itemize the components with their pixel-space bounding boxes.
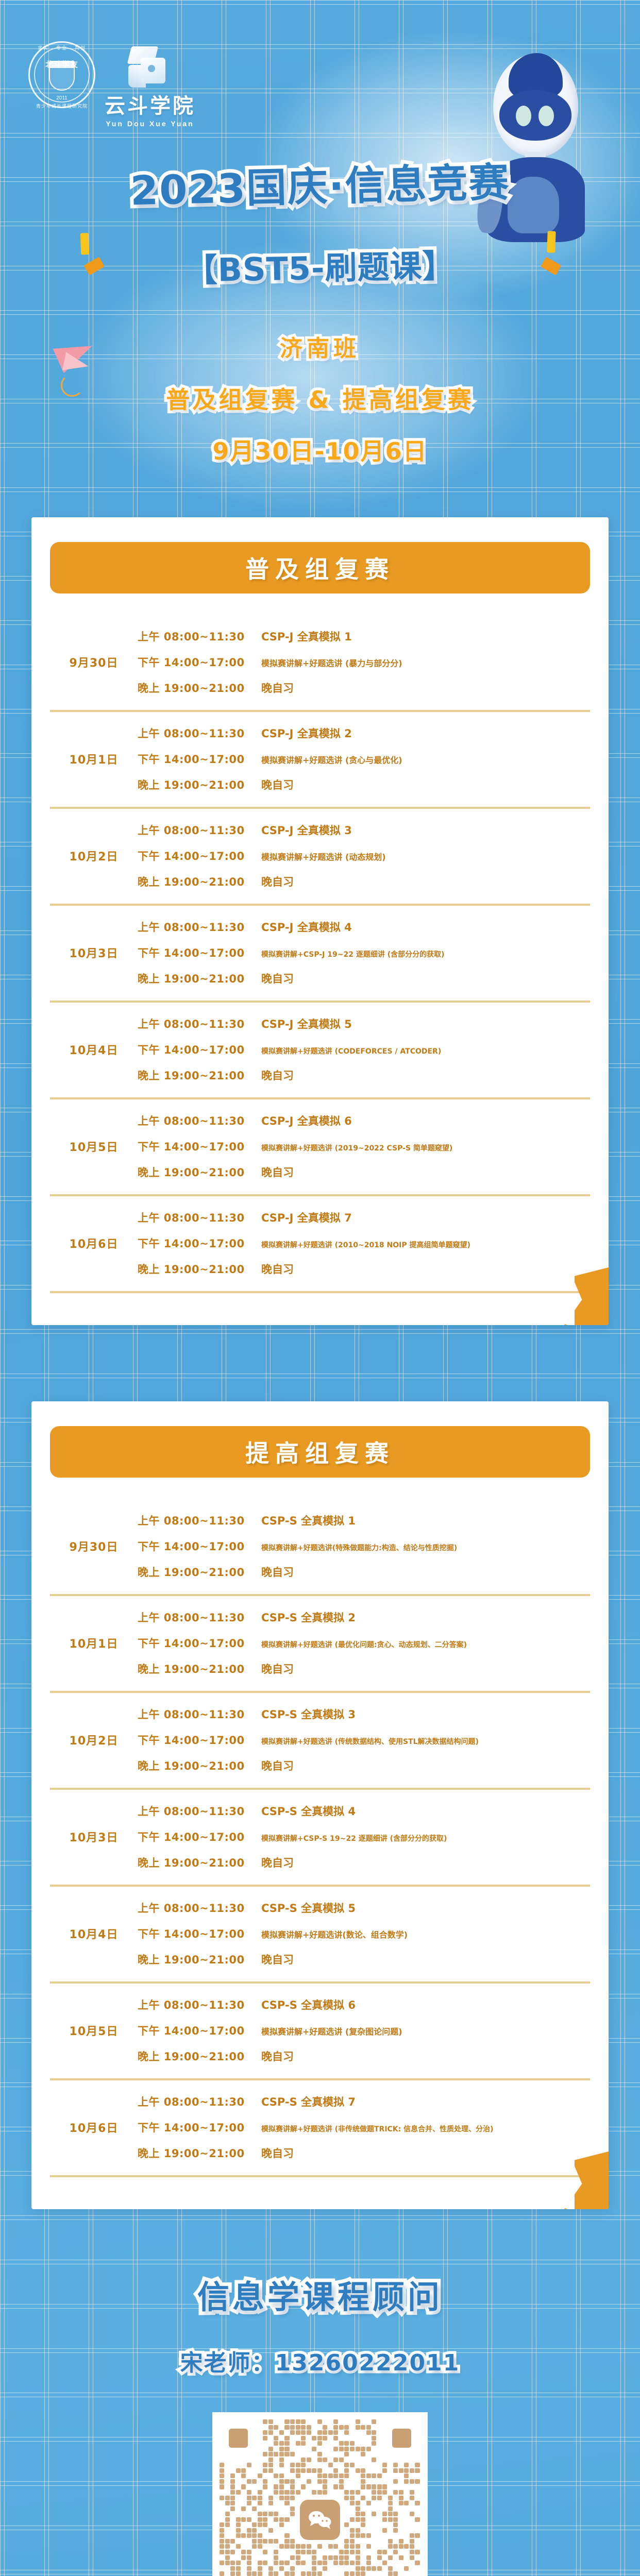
table-row: 10月6日上午 08:00~11:30CSP-S 全真模拟 7下午 14:00~… [50, 2080, 590, 2177]
list-item: 上午 08:00~11:30CSP-J 全真模拟 4 [138, 914, 590, 940]
poster-footer: 信息学课程顾问 宋老师：13260222011 [0, 2209, 640, 2576]
session-time: 下午 14:00~17:00 [138, 945, 261, 960]
footer-title: 信息学课程顾问 [0, 2271, 640, 2317]
session-activity: CSP-J 全真模拟 4 [261, 919, 590, 935]
date-range-label: 9月30日-10月6日 [0, 433, 640, 467]
row-date: 10月3日 [50, 944, 138, 961]
academy-brand: 云斗学院 Yun Dou Xue Yuan [105, 44, 195, 128]
session-activity: 晚自习 [261, 1855, 590, 1870]
session-time: 晚上 19:00~21:00 [138, 2145, 261, 2161]
session-activity: 模拟赛讲解+好题选讲 (非传统做题TRICK: 信息合并、性质处理、分治) [261, 2124, 590, 2134]
schedule-card-advanced-group: 提高组复赛9月30日上午 08:00~11:30CSP-S 全真模拟 1下午 1… [31, 1401, 609, 2209]
session-time: 晚上 19:00~21:00 [138, 1758, 261, 1773]
list-item: 上午 08:00~11:30CSP-J 全真模拟 7 [138, 1205, 590, 1230]
list-item: 下午 14:00~17:00模拟赛讲解+好题选讲 (非传统做题TRICK: 信息… [138, 2114, 590, 2140]
session-time: 下午 14:00~17:00 [138, 1926, 261, 1941]
row-session-list: 上午 08:00~11:30CSP-J 全真模拟 2下午 14:00~17:00… [138, 720, 590, 798]
poster-root: 求实 · 专业 · 共创 北斗学友 2011 青少年成长课程研究院 云斗学院 Y… [0, 0, 640, 2576]
row-date: 10月1日 [50, 1635, 138, 1651]
list-item: 上午 08:00~11:30CSP-S 全真模拟 6 [138, 1992, 590, 2018]
session-activity: CSP-J 全真模拟 6 [261, 1113, 590, 1128]
session-activity: 模拟赛讲解+好题选讲 (传统数据结构、使用STL解决数据结构问题) [261, 1736, 590, 1747]
institute-seal-icon: 求实 · 专业 · 共创 北斗学友 2011 青少年成长课程研究院 [28, 41, 95, 108]
session-activity: 晚自习 [261, 1261, 590, 1277]
row-session-list: 上午 08:00~11:30CSP-S 全真模拟 3下午 14:00~17:00… [138, 1701, 590, 1778]
table-row: 10月1日上午 08:00~11:30CSP-S 全真模拟 2下午 14:00~… [50, 1596, 590, 1693]
session-time: 上午 08:00~11:30 [138, 822, 261, 838]
list-item: 晚上 19:00~21:00晚自习 [138, 1946, 590, 1972]
schedule-sections: 普及组复赛9月30日上午 08:00~11:30CSP-J 全真模拟 1下午 1… [0, 517, 640, 2209]
table-row: 10月2日上午 08:00~11:30CSP-J 全真模拟 3下午 14:00~… [50, 809, 590, 906]
session-time: 晚上 19:00~21:00 [138, 1855, 261, 1870]
row-date: 10月2日 [50, 1732, 138, 1748]
section-header-advanced-group: 提高组复赛 [50, 1426, 590, 1478]
row-date: 9月30日 [50, 654, 138, 670]
seal-arc-top-text: 求实 · 专业 · 共创 [28, 44, 95, 51]
session-time: 下午 14:00~17:00 [138, 1042, 261, 1057]
list-item: 上午 08:00~11:30CSP-J 全真模拟 1 [138, 623, 590, 649]
session-time: 晚上 19:00~21:00 [138, 1661, 261, 1676]
session-activity: 模拟赛讲解+好题选讲(数论、组合数学) [261, 1928, 590, 1940]
session-activity: 模拟赛讲解+好题选讲(特殊做题能力:构造、结论与性质挖掘) [261, 1543, 590, 1553]
session-activity: 晚自习 [261, 2145, 590, 2161]
logo-group: 求实 · 专业 · 共创 北斗学友 2011 青少年成长课程研究院 云斗学院 Y… [28, 41, 195, 128]
table-row: 9月30日上午 08:00~11:30CSP-J 全真模拟 1下午 14:00~… [50, 615, 590, 712]
session-time: 上午 08:00~11:30 [138, 1803, 261, 1819]
session-activity: 晚自习 [261, 1952, 590, 1967]
session-activity: CSP-S 全真模拟 4 [261, 1803, 590, 1819]
list-item: 晚上 19:00~21:00晚自习 [138, 675, 590, 701]
session-time: 下午 14:00~17:00 [138, 751, 261, 767]
row-session-list: 上午 08:00~11:30CSP-S 全真模拟 2下午 14:00~17:00… [138, 1604, 590, 1682]
list-item: 晚上 19:00~21:00晚自习 [138, 965, 590, 991]
session-activity: 模拟赛讲解+CSP-J 19~22 逐题细讲 (含部分分的获取) [261, 949, 590, 959]
session-activity: 模拟赛讲解+好题选讲 (2010~2018 NOIP 提高组简单题窥望) [261, 1240, 590, 1250]
academy-name: 云斗学院 [105, 96, 195, 116]
session-activity: CSP-S 全真模拟 2 [261, 1609, 590, 1625]
section-title: 提高组复赛 [245, 1435, 395, 1469]
session-activity: CSP-S 全真模拟 1 [261, 1513, 590, 1528]
session-activity: CSP-S 全真模拟 6 [261, 1997, 590, 2012]
table-row: 10月4日上午 08:00~11:30CSP-S 全真模拟 5下午 14:00~… [50, 1887, 590, 1984]
section-title: 普及组复赛 [245, 551, 395, 585]
row-date: 9月30日 [50, 1538, 138, 1554]
session-activity: CSP-S 全真模拟 3 [261, 1706, 590, 1722]
academy-logo-icon [125, 44, 175, 94]
session-time: 下午 14:00~17:00 [138, 1235, 261, 1251]
list-item: 晚上 19:00~21:00晚自习 [138, 1062, 590, 1088]
session-time: 晚上 19:00~21:00 [138, 2048, 261, 2064]
row-date: 10月1日 [50, 751, 138, 767]
session-time: 晚上 19:00~21:00 [138, 874, 261, 889]
session-activity: 晚自习 [261, 1564, 590, 1580]
schedule-card-popular-group: 普及组复赛9月30日上午 08:00~11:30CSP-J 全真模拟 1下午 1… [31, 517, 609, 1325]
contact-phone: 宋老师：13260222011 [0, 2344, 640, 2377]
session-time: 晚上 19:00~21:00 [138, 971, 261, 986]
seal-year: 2011 [28, 95, 95, 101]
list-item: 上午 08:00~11:30CSP-J 全真模拟 6 [138, 1108, 590, 1133]
session-time: 下午 14:00~17:00 [138, 1139, 261, 1154]
session-time: 晚上 19:00~21:00 [138, 1164, 261, 1180]
row-session-list: 上午 08:00~11:30CSP-S 全真模拟 4下午 14:00~17:00… [138, 1798, 590, 1875]
session-time: 上午 08:00~11:30 [138, 629, 261, 644]
session-time: 下午 14:00~17:00 [138, 1538, 261, 1554]
session-time: 下午 14:00~17:00 [138, 1732, 261, 1748]
section-header-popular-group: 普及组复赛 [50, 542, 590, 594]
list-item: 上午 08:00~11:30CSP-J 全真模拟 3 [138, 817, 590, 843]
session-activity: 晚自习 [261, 1067, 590, 1083]
session-activity: 模拟赛讲解+好题选讲 (最优化问题:贪心、动态规划、二分答案) [261, 1639, 590, 1650]
list-item: 下午 14:00~17:00模拟赛讲解+好题选讲 (CODEFORCES / A… [138, 1037, 590, 1062]
session-time: 晚上 19:00~21:00 [138, 1952, 261, 1967]
session-activity: 晚自习 [261, 1661, 590, 1676]
session-time: 下午 14:00~17:00 [138, 2023, 261, 2038]
table-row: 10月4日上午 08:00~11:30CSP-J 全真模拟 5下午 14:00~… [50, 1003, 590, 1099]
row-session-list: 上午 08:00~11:30CSP-S 全真模拟 7下午 14:00~17:00… [138, 2089, 590, 2166]
list-item: 下午 14:00~17:00模拟赛讲解+好题选讲 (动态规划) [138, 843, 590, 869]
list-item: 晚上 19:00~21:00晚自习 [138, 2140, 590, 2166]
session-time: 晚上 19:00~21:00 [138, 680, 261, 696]
table-row: 10月2日上午 08:00~11:30CSP-S 全真模拟 3下午 14:00~… [50, 1693, 590, 1790]
list-item: 晚上 19:00~21:00晚自习 [138, 869, 590, 894]
session-activity: 模拟赛讲解+好题选讲 (CODEFORCES / ATCODER) [261, 1046, 590, 1056]
session-activity: CSP-J 全真模拟 5 [261, 1016, 590, 1031]
session-time: 下午 14:00~17:00 [138, 1829, 261, 1844]
session-activity: 晚自习 [261, 971, 590, 986]
table-row: 9月30日上午 08:00~11:30CSP-S 全真模拟 1下午 14:00~… [50, 1499, 590, 1596]
row-date: 10月4日 [50, 1925, 138, 1942]
academy-pinyin: Yun Dou Xue Yuan [105, 120, 195, 128]
session-activity: CSP-J 全真模拟 1 [261, 629, 590, 644]
row-session-list: 上午 08:00~11:30CSP-J 全真模拟 4下午 14:00~17:00… [138, 914, 590, 991]
table-row: 10月1日上午 08:00~11:30CSP-J 全真模拟 2下午 14:00~… [50, 712, 590, 809]
row-date: 10月6日 [50, 2119, 138, 2136]
list-item: 晚上 19:00~21:00晚自习 [138, 1256, 590, 1282]
row-session-list: 上午 08:00~11:30CSP-J 全真模拟 6下午 14:00~17:00… [138, 1108, 590, 1185]
session-time: 上午 08:00~11:30 [138, 919, 261, 935]
list-item: 下午 14:00~17:00模拟赛讲解+好题选讲(数论、组合数学) [138, 1921, 590, 1946]
session-activity: 模拟赛讲解+好题选讲 (2019~2022 CSP-S 简单题窥望) [261, 1143, 590, 1153]
row-date: 10月6日 [50, 1235, 138, 1251]
session-time: 下午 14:00~17:00 [138, 1635, 261, 1651]
session-time: 上午 08:00~11:30 [138, 1609, 261, 1625]
session-activity: 模拟赛讲解+CSP-S 19~22 逐题细讲 (含部分分的获取) [261, 1833, 590, 1843]
row-session-list: 上午 08:00~11:30CSP-J 全真模拟 1下午 14:00~17:00… [138, 623, 590, 701]
list-item: 上午 08:00~11:30CSP-S 全真模拟 7 [138, 2089, 590, 2114]
list-item: 下午 14:00~17:00模拟赛讲解+好题选讲(特殊做题能力:构造、结论与性质… [138, 1533, 590, 1559]
list-item: 上午 08:00~11:30CSP-J 全真模拟 2 [138, 720, 590, 746]
list-item: 晚上 19:00~21:00晚自习 [138, 1559, 590, 1585]
session-activity: 模拟赛讲解+好题选讲 (动态规划) [261, 850, 590, 862]
table-row: 10月3日上午 08:00~11:30CSP-S 全真模拟 4下午 14:00~… [50, 1790, 590, 1887]
session-time: 下午 14:00~17:00 [138, 2120, 261, 2135]
session-activity: CSP-J 全真模拟 2 [261, 725, 590, 741]
session-time: 上午 08:00~11:30 [138, 1513, 261, 1528]
session-time: 上午 08:00~11:30 [138, 1900, 261, 1916]
session-time: 上午 08:00~11:30 [138, 725, 261, 741]
session-activity: 晚自习 [261, 1164, 590, 1180]
session-time: 下午 14:00~17:00 [138, 654, 261, 670]
list-item: 下午 14:00~17:00模拟赛讲解+CSP-S 19~22 逐题细讲 (含部… [138, 1824, 590, 1850]
list-item: 下午 14:00~17:00模拟赛讲解+好题选讲 (贪心与最优化) [138, 746, 590, 772]
list-item: 晚上 19:00~21:00晚自习 [138, 1753, 590, 1778]
session-time: 晚上 19:00~21:00 [138, 1067, 261, 1083]
session-activity: CSP-S 全真模拟 5 [261, 1900, 590, 1916]
session-time: 下午 14:00~17:00 [138, 848, 261, 863]
list-item: 晚上 19:00~21:00晚自习 [138, 1850, 590, 1875]
list-item: 下午 14:00~17:00模拟赛讲解+好题选讲 (最优化问题:贪心、动态规划、… [138, 1630, 590, 1656]
session-activity: CSP-J 全真模拟 3 [261, 822, 590, 838]
wechat-icon [300, 2500, 340, 2540]
session-time: 上午 08:00~11:30 [138, 1997, 261, 2012]
session-time: 上午 08:00~11:30 [138, 1016, 261, 1031]
session-time: 上午 08:00~11:30 [138, 1706, 261, 1722]
groups-label: 普及组复赛 & 提高组复赛 [0, 381, 640, 415]
list-item: 上午 08:00~11:30CSP-S 全真模拟 4 [138, 1798, 590, 1824]
robot-mascot-icon [478, 54, 591, 240]
session-time: 晚上 19:00~21:00 [138, 1564, 261, 1580]
wechat-qr-code[interactable] [212, 2412, 428, 2576]
row-session-list: 上午 08:00~11:30CSP-J 全真模拟 3下午 14:00~17:00… [138, 817, 590, 894]
row-date: 10月4日 [50, 1041, 138, 1058]
list-item: 下午 14:00~17:00模拟赛讲解+好题选讲 (2019~2022 CSP-… [138, 1133, 590, 1159]
session-time: 上午 08:00~11:30 [138, 2094, 261, 2109]
list-item: 下午 14:00~17:00模拟赛讲解+好题选讲 (2010~2018 NOIP… [138, 1230, 590, 1256]
list-item: 上午 08:00~11:30CSP-J 全真模拟 5 [138, 1011, 590, 1037]
session-activity: 晚自习 [261, 2048, 590, 2064]
session-time: 上午 08:00~11:30 [138, 1113, 261, 1128]
list-item: 晚上 19:00~21:00晚自习 [138, 772, 590, 798]
session-activity: CSP-S 全真模拟 7 [261, 2094, 590, 2109]
session-time: 晚上 19:00~21:00 [138, 1261, 261, 1277]
session-activity: 晚自习 [261, 777, 590, 792]
list-item: 上午 08:00~11:30CSP-S 全真模拟 3 [138, 1701, 590, 1727]
table-row: 10月3日上午 08:00~11:30CSP-J 全真模拟 4下午 14:00~… [50, 906, 590, 1003]
row-session-list: 上午 08:00~11:30CSP-J 全真模拟 7下午 14:00~17:00… [138, 1205, 590, 1282]
list-item: 上午 08:00~11:30CSP-S 全真模拟 2 [138, 1604, 590, 1630]
row-date: 10月5日 [50, 1138, 138, 1155]
row-session-list: 上午 08:00~11:30CSP-S 全真模拟 1下午 14:00~17:00… [138, 1507, 590, 1585]
table-row: 10月6日上午 08:00~11:30CSP-J 全真模拟 7下午 14:00~… [50, 1196, 590, 1293]
table-row: 10月5日上午 08:00~11:30CSP-J 全真模拟 6下午 14:00~… [50, 1099, 590, 1196]
list-item: 晚上 19:00~21:00晚自习 [138, 2043, 590, 2069]
row-session-list: 上午 08:00~11:30CSP-J 全真模拟 5下午 14:00~17:00… [138, 1011, 590, 1088]
list-item: 上午 08:00~11:30CSP-S 全真模拟 5 [138, 1895, 590, 1921]
row-session-list: 上午 08:00~11:30CSP-S 全真模拟 6下午 14:00~17:00… [138, 1992, 590, 2069]
session-activity: CSP-J 全真模拟 7 [261, 1210, 590, 1225]
list-item: 上午 08:00~11:30CSP-S 全真模拟 1 [138, 1507, 590, 1533]
row-date: 10月2日 [50, 848, 138, 864]
list-item: 晚上 19:00~21:00晚自习 [138, 1159, 590, 1185]
session-activity: 模拟赛讲解+好题选讲 (贪心与最优化) [261, 753, 590, 766]
session-activity: 晚自习 [261, 1758, 590, 1773]
list-item: 下午 14:00~17:00模拟赛讲解+好题选讲 (复杂图论问题) [138, 2018, 590, 2043]
list-item: 下午 14:00~17:00模拟赛讲解+CSP-J 19~22 逐题细讲 (含部… [138, 940, 590, 965]
row-date: 10月5日 [50, 2022, 138, 2039]
session-activity: 晚自习 [261, 680, 590, 696]
session-activity: 模拟赛讲解+好题选讲 (复杂图论问题) [261, 2025, 590, 2037]
poster-header: 求实 · 专业 · 共创 北斗学友 2011 青少年成长课程研究院 云斗学院 Y… [0, 0, 640, 495]
row-date: 10月3日 [50, 1828, 138, 1845]
session-activity: 晚自习 [261, 874, 590, 889]
session-time: 上午 08:00~11:30 [138, 1210, 261, 1225]
row-session-list: 上午 08:00~11:30CSP-S 全真模拟 5下午 14:00~17:00… [138, 1895, 590, 1972]
seal-arc-bottom-text: 青少年成长课程研究院 [28, 103, 95, 109]
list-item: 晚上 19:00~21:00晚自习 [138, 1656, 590, 1682]
class-city-label: 济南班 [0, 330, 640, 363]
table-row: 10月5日上午 08:00~11:30CSP-S 全真模拟 6下午 14:00~… [50, 1984, 590, 2080]
list-item: 下午 14:00~17:00模拟赛讲解+好题选讲 (传统数据结构、使用STL解决… [138, 1727, 590, 1753]
list-item: 下午 14:00~17:00模拟赛讲解+好题选讲 (暴力与部分分) [138, 649, 590, 675]
session-time: 晚上 19:00~21:00 [138, 777, 261, 792]
session-activity: 模拟赛讲解+好题选讲 (暴力与部分分) [261, 656, 590, 669]
